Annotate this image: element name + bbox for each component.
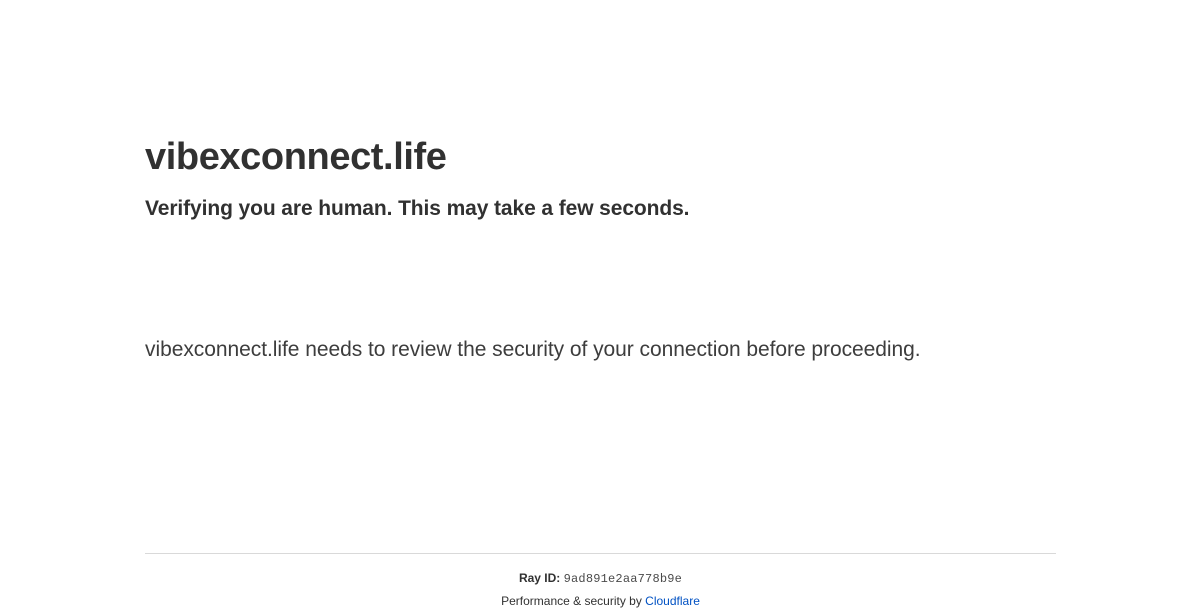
attribution-text: Performance & security by (501, 594, 645, 608)
ray-id-line: Ray ID: 9ad891e2aa778b9e (145, 554, 1056, 586)
cloudflare-link[interactable]: Cloudflare (645, 594, 700, 608)
ray-id-value: 9ad891e2aa778b9e (564, 572, 682, 586)
turnstile-challenge-widget[interactable] (145, 238, 1056, 332)
challenge-description: vibexconnect.life needs to review the se… (145, 332, 945, 368)
attribution-line: Performance & security by Cloudflare (145, 586, 1056, 608)
challenge-content: vibexconnect.life Verifying you are huma… (145, 0, 1056, 368)
ray-id-label: Ray ID: (519, 571, 560, 585)
page-title: vibexconnect.life (145, 0, 1056, 182)
verification-status-text: Verifying you are human. This may take a… (145, 182, 1056, 223)
challenge-page: vibexconnect.life Verifying you are huma… (0, 0, 1200, 600)
